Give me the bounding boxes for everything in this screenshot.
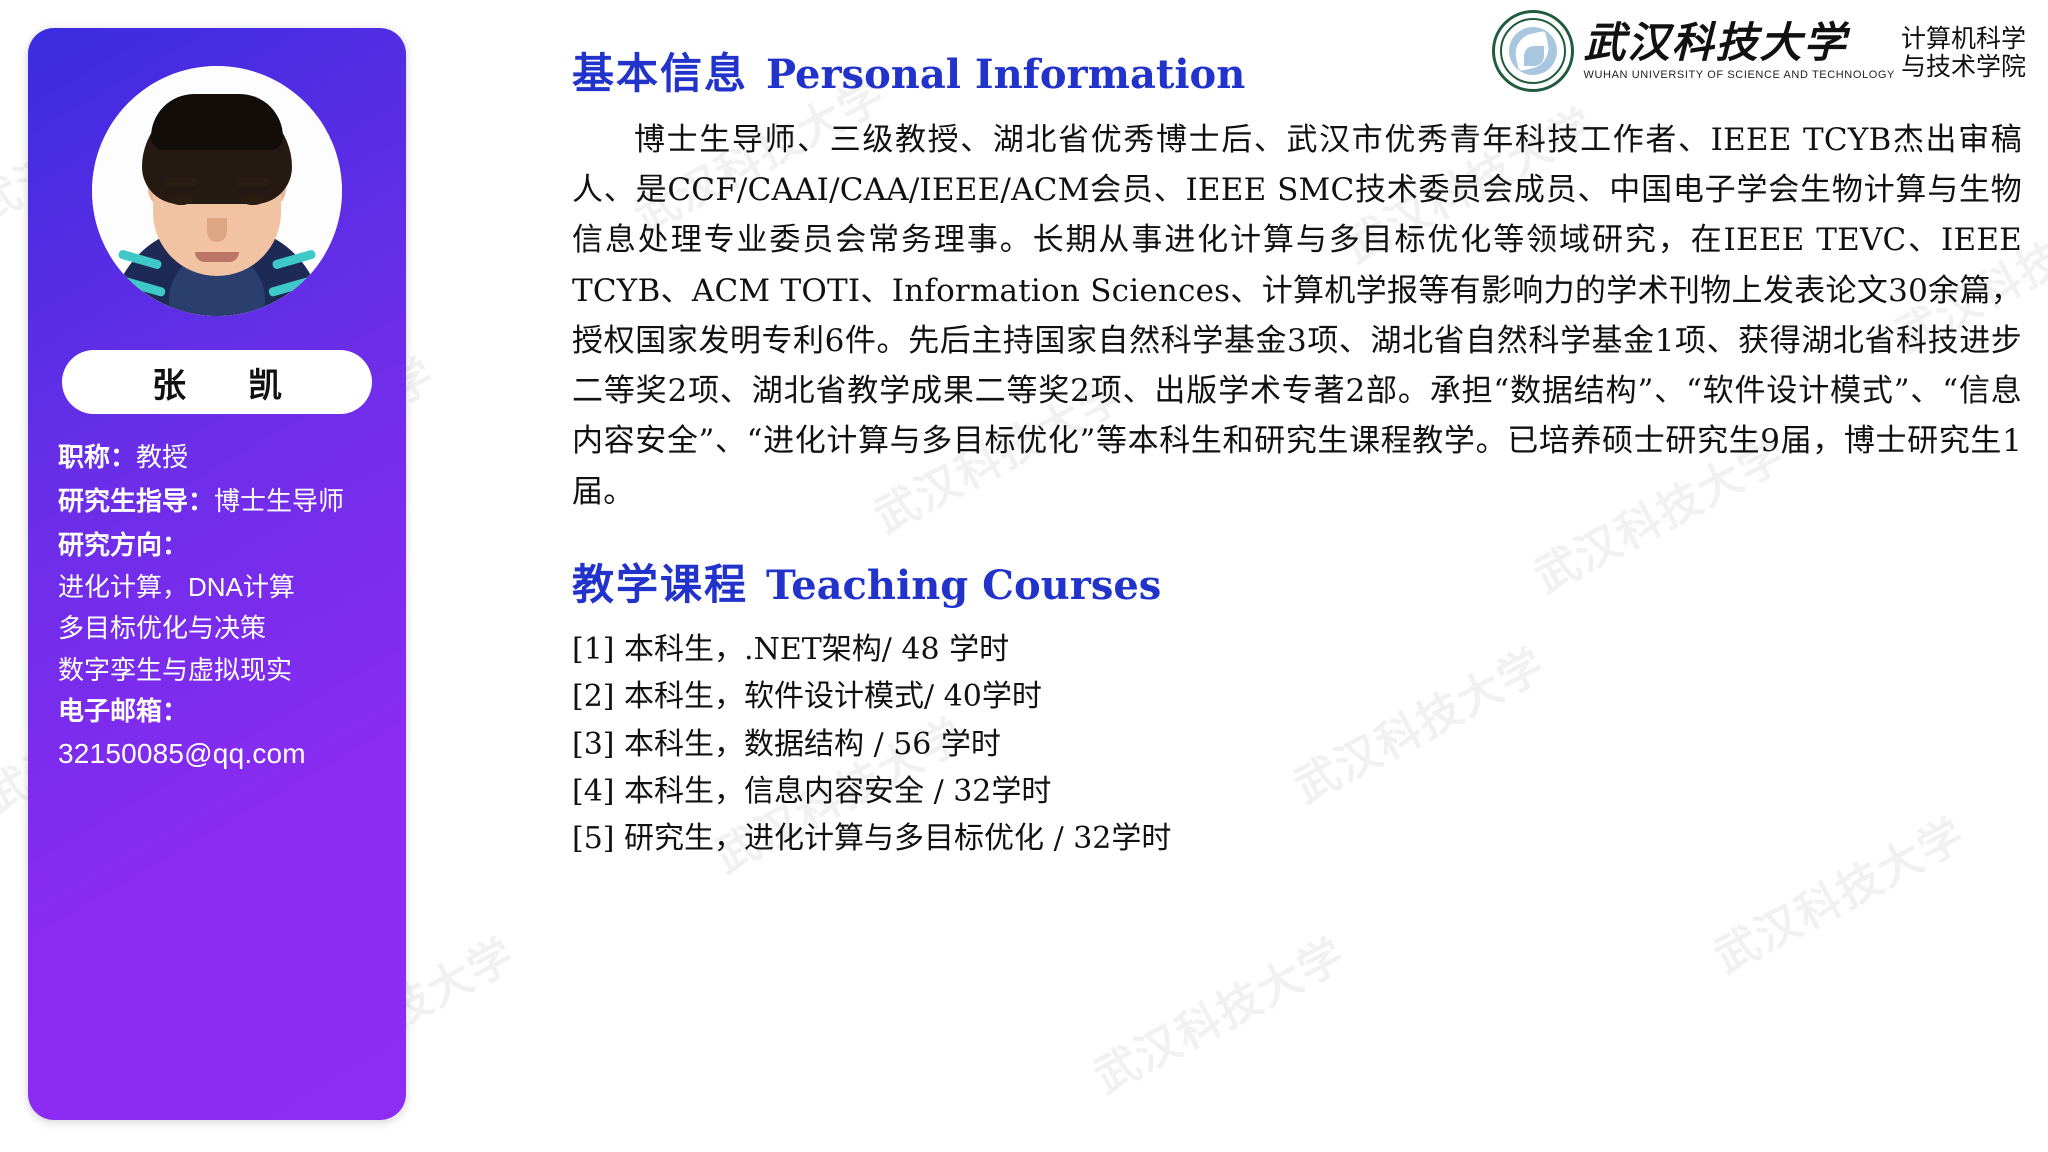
- course-list: [1] 本科生，.NET架构/ 48 学时 [2] 本科生，软件设计模式/ 40…: [572, 626, 2022, 863]
- research-area-item: 进化计算，DNA计算: [58, 567, 388, 609]
- portrait-hair-top: [151, 94, 283, 150]
- profile-page: 张 凯 职称：教授 研究生指导：博士生导师 研究方向： 进化计算，DNA计算 多…: [0, 0, 2048, 1152]
- portrait-mouth: [195, 252, 239, 262]
- email-heading: 电子邮箱：: [58, 691, 388, 733]
- field-supervision: 研究生指导：博士生导师: [58, 482, 388, 522]
- research-area-item: 数字孪生与虚拟现实: [58, 650, 388, 692]
- teaching-heading-en: Teaching Courses: [766, 562, 1161, 609]
- teaching-heading-cn: 教学课程: [572, 551, 748, 612]
- research-area-item: 多目标优化与决策: [58, 608, 388, 650]
- person-name: 张 凯: [138, 358, 296, 407]
- research-heading: 研究方向：: [58, 525, 388, 567]
- section-header-personal: 基本信息 Personal Information: [572, 40, 2022, 101]
- course-item: [5] 研究生，进化计算与多目标优化 / 32学时: [572, 815, 2022, 862]
- field-title: 职称：教授: [58, 438, 388, 478]
- section-header-teaching: 教学课程 Teaching Courses: [572, 551, 2022, 612]
- portrait-eye-left: [169, 194, 193, 205]
- course-item: [3] 本科生，数据结构 / 56 学时: [572, 721, 2022, 768]
- portrait-eye-right: [241, 194, 265, 205]
- portrait-brow-left: [164, 178, 198, 186]
- personal-heading-cn: 基本信息: [572, 40, 748, 101]
- field-title-value: 教授: [136, 442, 188, 472]
- profile-card: 张 凯 职称：教授 研究生指导：博士生导师 研究方向： 进化计算，DNA计算 多…: [28, 28, 406, 1120]
- field-supervision-value: 博士生导师: [214, 486, 344, 516]
- personal-heading-en: Personal Information: [766, 51, 1245, 98]
- field-supervision-label: 研究生指导：: [58, 486, 214, 516]
- course-item: [1] 本科生，.NET架构/ 48 学时: [572, 626, 2022, 673]
- email-value[interactable]: 32150085@qq.com: [58, 733, 388, 775]
- avatar: [92, 66, 342, 316]
- portrait-brow-right: [236, 178, 270, 186]
- name-badge: 张 凯: [62, 350, 372, 414]
- avatar-photo: [92, 66, 342, 316]
- portrait-nose: [207, 218, 227, 242]
- course-item: [2] 本科生，软件设计模式/ 40学时: [572, 673, 2022, 720]
- main-content: 基本信息 Personal Information 博士生导师、三级教授、湖北省…: [572, 40, 2022, 863]
- course-item: [4] 本科生，信息内容安全 / 32学时: [572, 768, 2022, 815]
- field-title-label: 职称：: [58, 442, 136, 472]
- biography-text: 博士生导师、三级教授、湖北省优秀博士后、武汉市优秀青年科技工作者、IEEE TC…: [572, 115, 2022, 517]
- profile-details: 职称：教授 研究生指导：博士生导师 研究方向： 进化计算，DNA计算 多目标优化…: [58, 438, 388, 775]
